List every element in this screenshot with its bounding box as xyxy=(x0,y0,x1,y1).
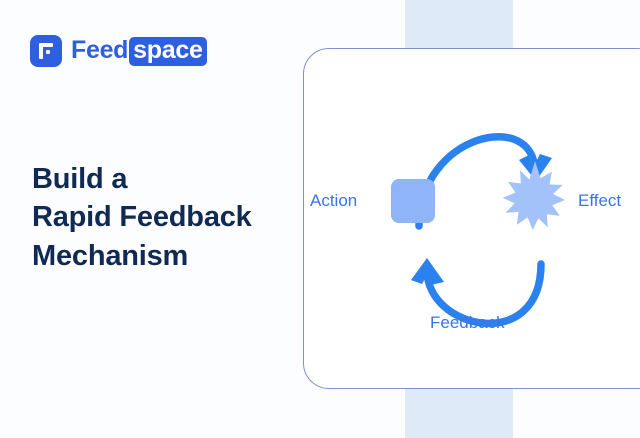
slide-canvas: Feed space Build a Rapid Feedback Mechan… xyxy=(0,0,640,438)
headline-line-3: Mechanism xyxy=(32,237,282,275)
logo-glyph-dot xyxy=(46,50,51,55)
action-node xyxy=(391,179,435,223)
feedspace-logo[interactable]: Feed space xyxy=(30,34,207,68)
label-effect: Effect xyxy=(578,191,621,211)
logo-word-feed: Feed xyxy=(71,38,128,63)
label-feedback: Feedback xyxy=(430,313,505,333)
headline-line-2: Rapid Feedback xyxy=(32,198,282,236)
page-title: Build a Rapid Feedback Mechanism xyxy=(32,160,282,275)
effect-node xyxy=(503,161,565,230)
logo-word-space: space xyxy=(129,37,206,66)
feedback-loop-diagram xyxy=(303,48,640,389)
logo-wordmark: Feed space xyxy=(71,37,207,66)
headline-line-1: Build a xyxy=(32,160,282,198)
feedspace-logo-icon xyxy=(30,35,62,67)
logo-glyph-stem xyxy=(39,43,43,59)
label-action: Action xyxy=(310,191,357,211)
